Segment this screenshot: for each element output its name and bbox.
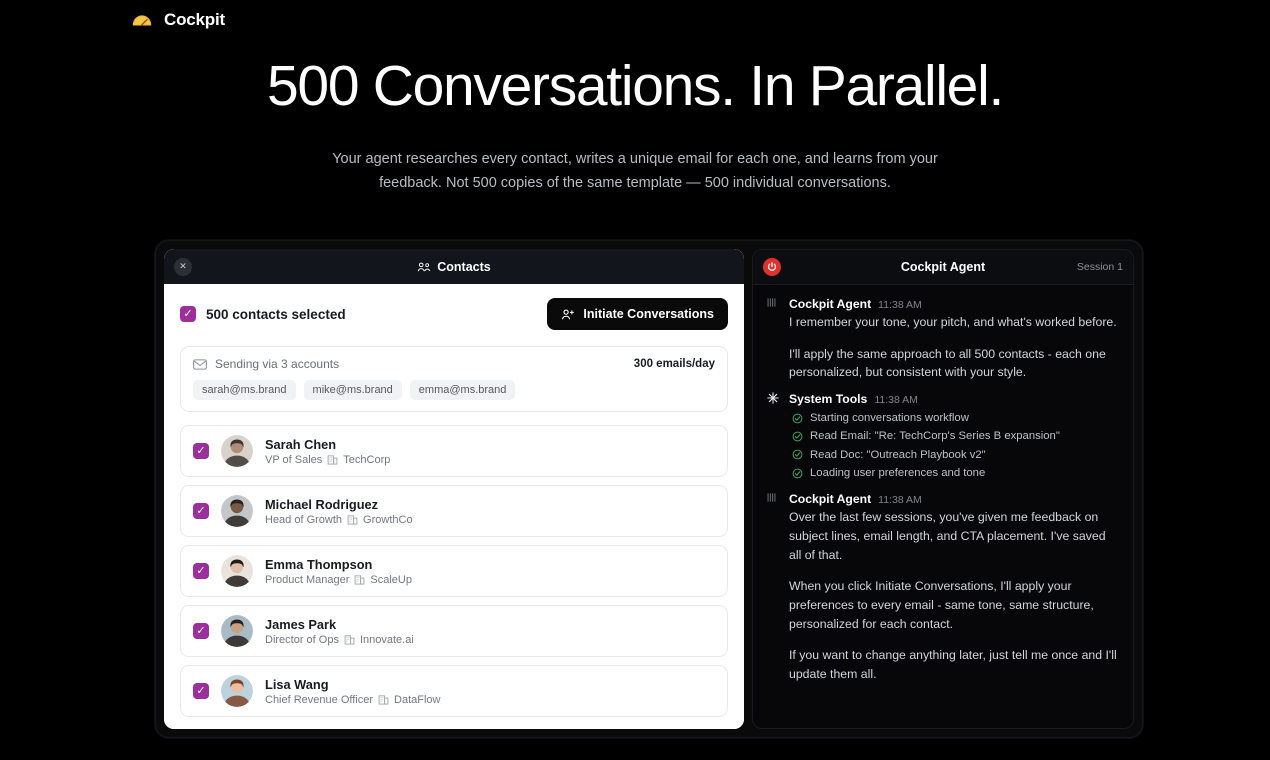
message-paragraph: I'll apply the same approach to all 500 … bbox=[789, 345, 1119, 382]
message-header: System Tools11:38 AM bbox=[789, 392, 1119, 406]
initiate-button-label: Initiate Conversations bbox=[583, 307, 714, 321]
avatar bbox=[221, 615, 253, 647]
contacts-panel-body: ✓ 500 contacts selected Initia bbox=[164, 284, 744, 729]
message-time: 11:38 AM bbox=[874, 394, 918, 406]
agent-message: Cockpit Agent11:38 AMI remember your ton… bbox=[767, 297, 1119, 382]
contact-checkbox[interactable]: ✓ bbox=[193, 683, 209, 699]
check-circle-icon bbox=[792, 449, 803, 460]
contact-role: Chief Revenue Officer bbox=[265, 694, 373, 706]
check-circle-icon bbox=[792, 431, 803, 442]
brand-name: Cockpit bbox=[164, 10, 225, 30]
tool-list: Starting conversations workflowRead Emai… bbox=[789, 409, 1119, 482]
message-header: Cockpit Agent11:38 AM bbox=[789, 297, 1119, 311]
close-icon[interactable]: ✕ bbox=[174, 258, 192, 276]
contact-name: Lisa Wang bbox=[265, 677, 441, 692]
contact-company: ScaleUp bbox=[370, 574, 412, 586]
contact-name: Michael Rodriguez bbox=[265, 497, 413, 512]
contacts-panel-title: Contacts bbox=[164, 260, 744, 274]
contact-company: GrowthCo bbox=[363, 514, 413, 526]
building-icon bbox=[327, 454, 338, 465]
session-label: Session 1 bbox=[1077, 261, 1123, 273]
avatar bbox=[221, 495, 253, 527]
account-chip[interactable]: sarah@ms.brand bbox=[193, 380, 296, 400]
sending-accounts-card: Sending via 3 accounts 300 emails/day sa… bbox=[180, 346, 728, 412]
agent-message: Cockpit Agent11:38 AMOver the last few s… bbox=[767, 492, 1119, 684]
bars-icon bbox=[767, 297, 781, 382]
tool-item: Loading user preferences and tone bbox=[789, 464, 1119, 482]
tool-item-label: Read Email: "Re: TechCorp's Series B exp… bbox=[810, 427, 1060, 445]
contact-checkbox[interactable]: ✓ bbox=[193, 563, 209, 579]
contact-company: DataFlow bbox=[394, 694, 440, 706]
message-time: 11:38 AM bbox=[878, 299, 922, 311]
system-tools-message: System Tools11:38 AMStarting conversatio… bbox=[767, 392, 1119, 482]
contact-info: Lisa WangChief Revenue OfficerDataFlow bbox=[265, 677, 441, 706]
check-circle-icon bbox=[792, 413, 803, 424]
message-body: System Tools11:38 AMStarting conversatio… bbox=[789, 392, 1119, 482]
message-body: Cockpit Agent11:38 AMOver the last few s… bbox=[789, 492, 1119, 684]
page-root: Cockpit 500 Conversations. In Parallel. … bbox=[0, 0, 1270, 760]
message-author: Cockpit Agent bbox=[789, 297, 871, 311]
message-body: Cockpit Agent11:38 AMI remember your ton… bbox=[789, 297, 1119, 382]
account-chip[interactable]: mike@ms.brand bbox=[304, 380, 402, 400]
message-paragraph: I remember your tone, your pitch, and wh… bbox=[789, 313, 1119, 332]
message-paragraph: Over the last few sessions, you've given… bbox=[789, 508, 1119, 564]
contacts-panel-header: ✕ Contacts bbox=[164, 249, 744, 284]
contact-checkbox[interactable]: ✓ bbox=[193, 443, 209, 459]
agent-panel: Cockpit Agent Session 1 Cockpit Agent11:… bbox=[752, 249, 1134, 729]
contact-name: James Park bbox=[265, 617, 414, 632]
sending-label: Sending via 3 accounts bbox=[215, 357, 339, 371]
avatar bbox=[221, 435, 253, 467]
contact-row[interactable]: ✓Michael RodriguezHead of GrowthGrowthCo bbox=[180, 485, 728, 537]
contact-checkbox[interactable]: ✓ bbox=[193, 623, 209, 639]
app-shell: ✕ Contacts ✓ bbox=[155, 240, 1143, 738]
tool-item-label: Read Doc: "Outreach Playbook v2" bbox=[810, 446, 986, 464]
message-paragraph: If you want to change anything later, ju… bbox=[789, 646, 1119, 683]
contact-meta: Director of OpsInnovate.ai bbox=[265, 634, 414, 646]
contact-row[interactable]: ✓Lisa WangChief Revenue OfficerDataFlow bbox=[180, 665, 728, 717]
building-icon bbox=[347, 514, 358, 525]
contact-role: VP of Sales bbox=[265, 454, 322, 466]
contact-role: Director of Ops bbox=[265, 634, 339, 646]
contact-info: James ParkDirector of OpsInnovate.ai bbox=[265, 617, 414, 646]
selection-count-label: 500 contacts selected bbox=[206, 307, 346, 322]
contact-meta: Product ManagerScaleUp bbox=[265, 574, 412, 586]
tool-item: Read Doc: "Outreach Playbook v2" bbox=[789, 446, 1119, 464]
message-time: 11:38 AM bbox=[878, 494, 922, 506]
tool-item-label: Loading user preferences and tone bbox=[810, 464, 985, 482]
brand[interactable]: Cockpit bbox=[130, 8, 225, 32]
building-icon bbox=[378, 694, 389, 705]
agent-panel-header: Cockpit Agent Session 1 bbox=[753, 250, 1133, 285]
tool-item-label: Starting conversations workflow bbox=[810, 409, 969, 427]
building-icon bbox=[344, 634, 355, 645]
contact-info: Sarah ChenVP of SalesTechCorp bbox=[265, 437, 390, 466]
contact-row[interactable]: ✓Sarah ChenVP of SalesTechCorp bbox=[180, 425, 728, 477]
tool-item: Read Email: "Re: TechCorp's Series B exp… bbox=[789, 427, 1119, 445]
contact-meta: Chief Revenue OfficerDataFlow bbox=[265, 694, 441, 706]
page-subtitle: Your agent researches every contact, wri… bbox=[305, 148, 965, 196]
account-chip[interactable]: emma@ms.brand bbox=[410, 380, 516, 400]
contact-role: Head of Growth bbox=[265, 514, 342, 526]
contact-name: Sarah Chen bbox=[265, 437, 390, 452]
contacts-title-label: Contacts bbox=[437, 260, 490, 274]
sending-summary: Sending via 3 accounts 300 emails/day bbox=[193, 357, 715, 371]
contact-row[interactable]: ✓Emma ThompsonProduct ManagerScaleUp bbox=[180, 545, 728, 597]
tool-item: Starting conversations workflow bbox=[789, 409, 1119, 427]
sending-account-chips: sarah@ms.brand mike@ms.brand emma@ms.bra… bbox=[193, 380, 715, 400]
selection-left: ✓ 500 contacts selected bbox=[180, 306, 346, 322]
building-icon bbox=[354, 574, 365, 585]
contact-meta: Head of GrowthGrowthCo bbox=[265, 514, 413, 526]
agent-conversation: Cockpit Agent11:38 AMI remember your ton… bbox=[753, 285, 1133, 728]
contact-meta: VP of SalesTechCorp bbox=[265, 454, 390, 466]
select-all-checkbox[interactable]: ✓ bbox=[180, 306, 196, 322]
people-icon bbox=[417, 261, 431, 273]
power-icon[interactable] bbox=[763, 258, 781, 276]
contact-info: Emma ThompsonProduct ManagerScaleUp bbox=[265, 557, 412, 586]
contact-row[interactable]: ✓James ParkDirector of OpsInnovate.ai bbox=[180, 605, 728, 657]
sending-rate: 300 emails/day bbox=[634, 358, 715, 370]
check-circle-icon bbox=[792, 468, 803, 479]
avatar bbox=[221, 555, 253, 587]
contact-list: ✓Sarah ChenVP of SalesTechCorp✓Michael R… bbox=[180, 425, 728, 717]
contact-company: TechCorp bbox=[343, 454, 390, 466]
gauge-icon bbox=[130, 8, 154, 32]
contacts-panel: ✕ Contacts ✓ bbox=[164, 249, 744, 729]
initiate-conversations-button[interactable]: Initiate Conversations bbox=[547, 298, 728, 330]
message-header: Cockpit Agent11:38 AM bbox=[789, 492, 1119, 506]
contact-info: Michael RodriguezHead of GrowthGrowthCo bbox=[265, 497, 413, 526]
message-author: System Tools bbox=[789, 392, 867, 406]
person-add-icon bbox=[561, 308, 575, 321]
contact-role: Product Manager bbox=[265, 574, 349, 586]
contact-name: Emma Thompson bbox=[265, 557, 412, 572]
envelope-icon bbox=[193, 359, 207, 370]
contact-checkbox[interactable]: ✓ bbox=[193, 503, 209, 519]
page-title: 500 Conversations. In Parallel. bbox=[0, 54, 1270, 120]
message-paragraph: When you click Initiate Conversations, I… bbox=[789, 577, 1119, 633]
sparkle-icon bbox=[767, 392, 781, 482]
bars-icon bbox=[767, 492, 781, 684]
message-author: Cockpit Agent bbox=[789, 492, 871, 506]
sending-left: Sending via 3 accounts bbox=[193, 357, 339, 371]
selection-row: ✓ 500 contacts selected Initia bbox=[180, 298, 728, 330]
contact-company: Innovate.ai bbox=[360, 634, 414, 646]
avatar bbox=[221, 675, 253, 707]
